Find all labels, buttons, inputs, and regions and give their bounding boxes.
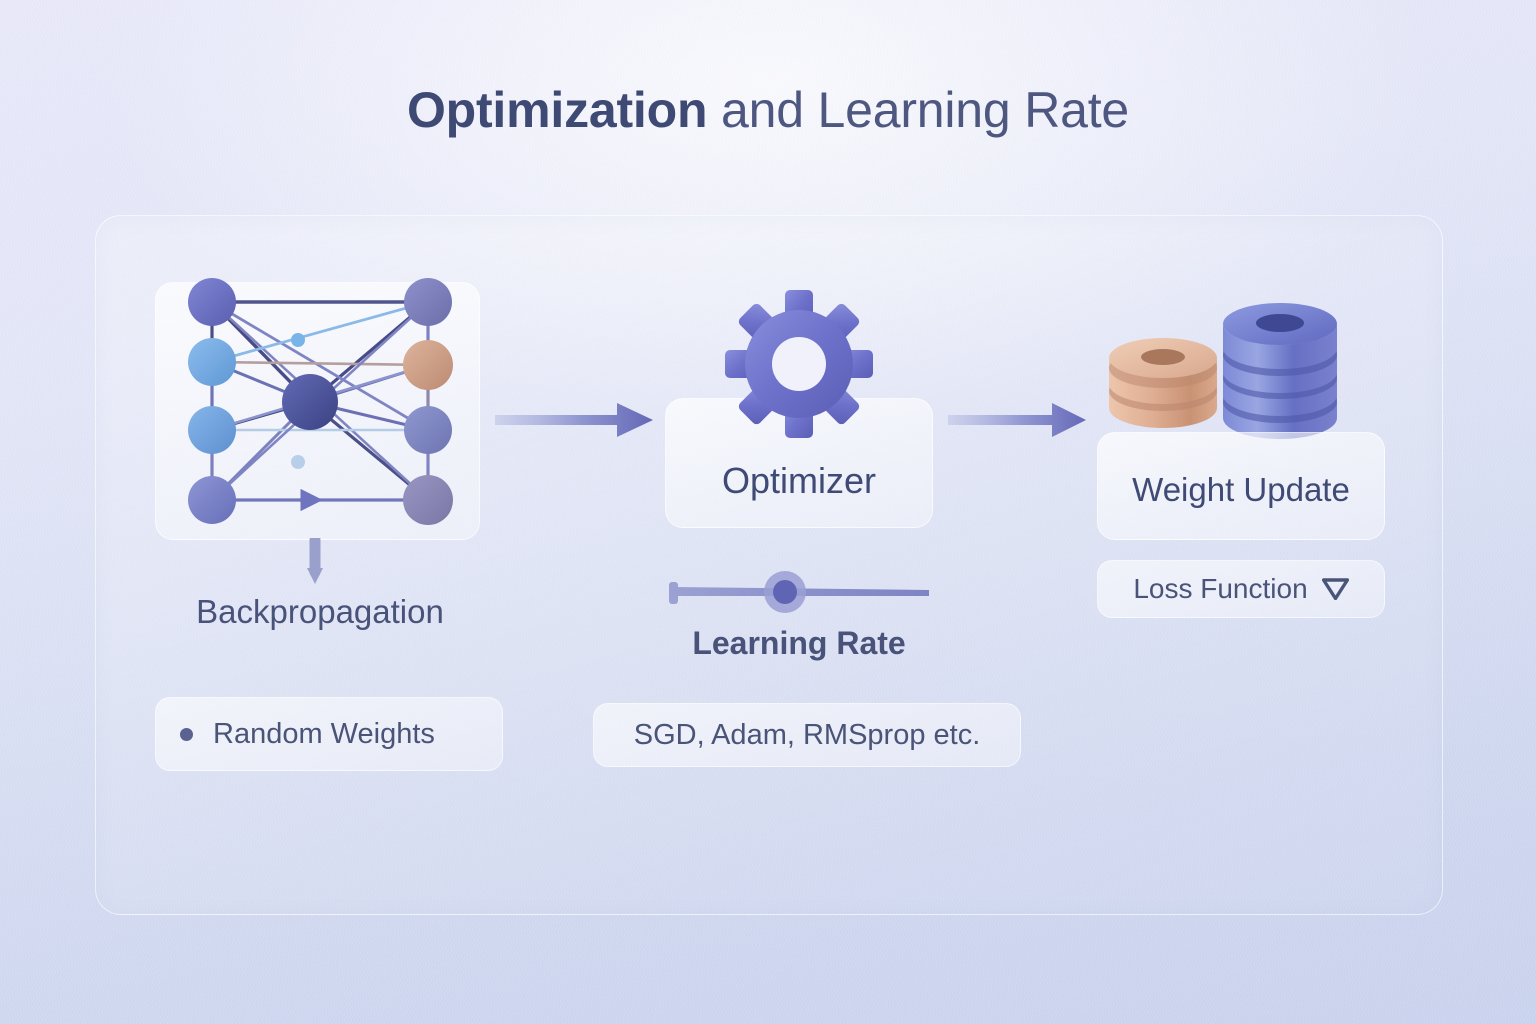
node-r4 (403, 475, 453, 525)
node-r1 (404, 278, 452, 326)
arrow-right-icon-1 (495, 398, 655, 442)
neural-network-icon (150, 262, 490, 552)
coin-stack-blue (1223, 303, 1337, 439)
slider-handle (773, 580, 797, 604)
triangle-down-icon (1322, 578, 1349, 600)
loss-function-label: Loss Function (1133, 573, 1307, 605)
node-s2 (291, 455, 305, 469)
loss-function-chip[interactable]: Loss Function (1097, 560, 1385, 618)
optimizer-label: Optimizer (665, 460, 933, 502)
arrow-down-icon (303, 538, 327, 588)
coin-stack-tan (1109, 338, 1217, 428)
backpropagation-label: Backpropagation (155, 593, 485, 631)
learning-rate-slider[interactable] (663, 568, 935, 618)
node-l2 (188, 338, 236, 386)
optimizers-chip[interactable]: SGD, Adam, RMSprop etc. (593, 703, 1021, 767)
page-title-rest: and Learning Rate (707, 82, 1129, 138)
coin-stacks-icon (1095, 298, 1395, 448)
node-center (282, 374, 338, 430)
optimizers-label: SGD, Adam, RMSprop etc. (634, 719, 981, 752)
random-weights-label: Random Weights (213, 718, 435, 751)
node-l1 (188, 278, 236, 326)
node-r2 (403, 340, 453, 390)
node-l4 (188, 476, 236, 524)
arrow-right-icon-2 (948, 398, 1088, 442)
node-r3 (404, 406, 452, 454)
gear-icon (723, 288, 875, 440)
random-weights-chip[interactable]: Random Weights (155, 697, 503, 771)
page-title: Optimization and Learning Rate (0, 82, 1536, 138)
node-l3 (188, 406, 236, 454)
learning-rate-label: Learning Rate (665, 625, 933, 662)
page-title-strong: Optimization (407, 82, 707, 138)
weight-update-label: Weight Update (1097, 471, 1385, 509)
node-s1 (291, 333, 305, 347)
bullet-icon (180, 728, 193, 741)
